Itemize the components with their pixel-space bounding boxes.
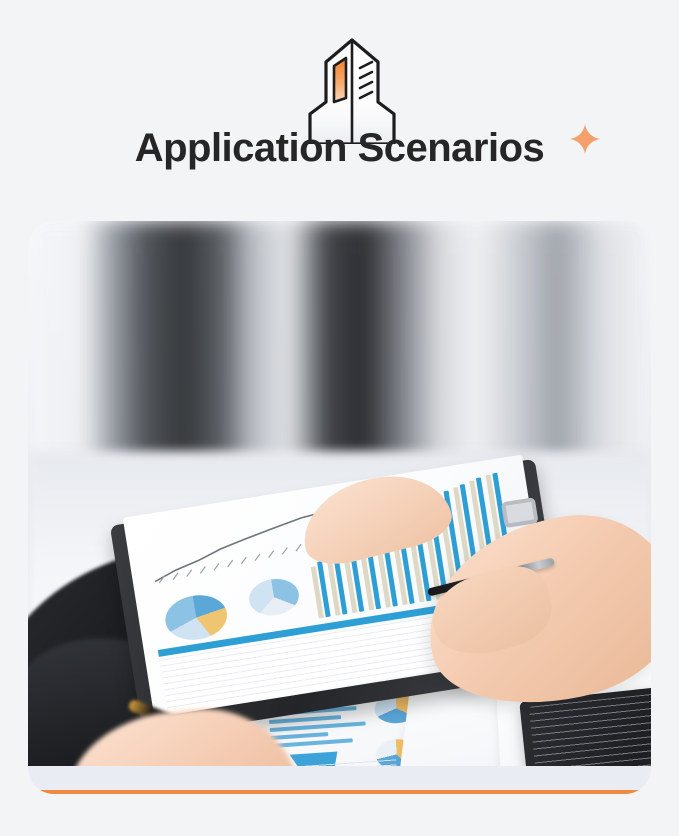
- sparkle-icon: [568, 122, 602, 156]
- photo-pie-chart: [246, 575, 301, 618]
- photo-pie-chart: [162, 591, 230, 644]
- scenario-photo: [28, 221, 651, 766]
- page-title: Application Scenarios: [135, 128, 545, 168]
- photo-background-blur: [28, 221, 651, 471]
- photo-card: Document Contract: [28, 221, 651, 794]
- page-header: Application Scenarios: [0, 0, 679, 212]
